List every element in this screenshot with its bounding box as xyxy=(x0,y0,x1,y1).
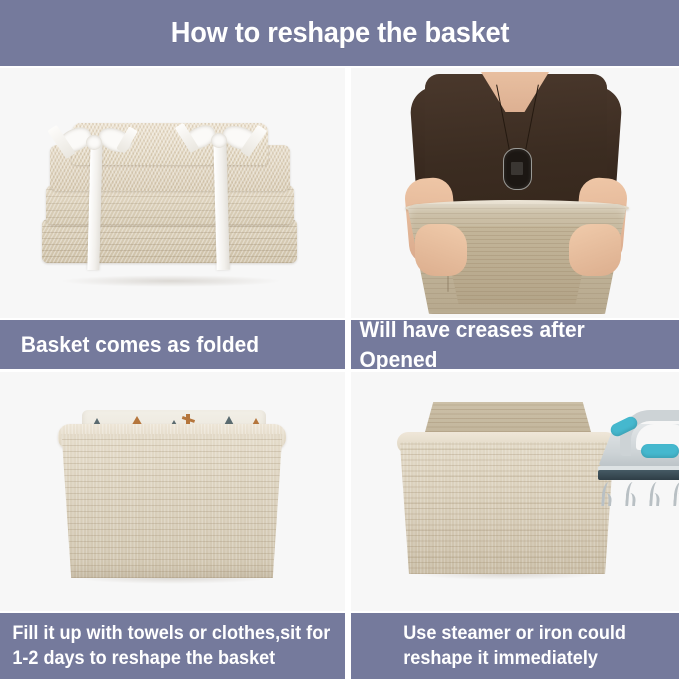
drop-shadow xyxy=(60,275,282,287)
caption-text-folded: Basket comes as folded xyxy=(0,330,259,359)
infographic-page: How to reshape the basket xyxy=(0,0,679,679)
hand-right xyxy=(569,224,621,276)
basket-body xyxy=(393,442,621,574)
caption-bar-steam: Use steamer or iron could reshape it imm… xyxy=(351,613,679,679)
step-image-folded xyxy=(0,68,345,318)
caption-text-creases: Will have creases after Opened xyxy=(351,315,663,373)
folded-layer-middle xyxy=(46,185,294,225)
steam-wisp-icon-3 xyxy=(649,482,661,506)
page-header: How to reshape the basket xyxy=(0,0,679,66)
iron-soleplate xyxy=(598,470,679,480)
steam-wisp-icon-1 xyxy=(601,482,613,506)
pendant-necklace-icon xyxy=(503,148,532,190)
hand-left xyxy=(415,224,467,276)
caption-text-fill: Fill it up with towels or clothes,sit fo… xyxy=(0,621,330,671)
step-image-creases xyxy=(351,68,679,318)
steam-wisp-icon-2 xyxy=(625,482,637,506)
folded-layer-bottom xyxy=(42,219,297,263)
caption-bar-fill: Fill it up with towels or clothes,sit fo… xyxy=(0,613,348,679)
steam-iron-icon xyxy=(596,404,679,508)
step-image-fill xyxy=(0,372,345,611)
filled-basket-illustration xyxy=(52,400,292,578)
steam-wisp-icon-4 xyxy=(673,482,679,506)
iron-knob-front xyxy=(641,444,679,458)
step-image-steam xyxy=(351,372,679,611)
caption-text-steam: Use steamer or iron could reshape it imm… xyxy=(351,621,626,671)
empty-basket-illustration xyxy=(393,402,621,574)
caption-bar-creases: Will have creases after Opened xyxy=(351,320,679,369)
basket-body xyxy=(52,434,292,578)
person-holding-basket-illustration xyxy=(385,74,647,318)
column-divider xyxy=(345,66,351,679)
caption-bar-folded: Basket comes as folded xyxy=(0,320,348,369)
folded-basket-illustration xyxy=(42,123,297,288)
page-title: How to reshape the basket xyxy=(170,19,508,48)
